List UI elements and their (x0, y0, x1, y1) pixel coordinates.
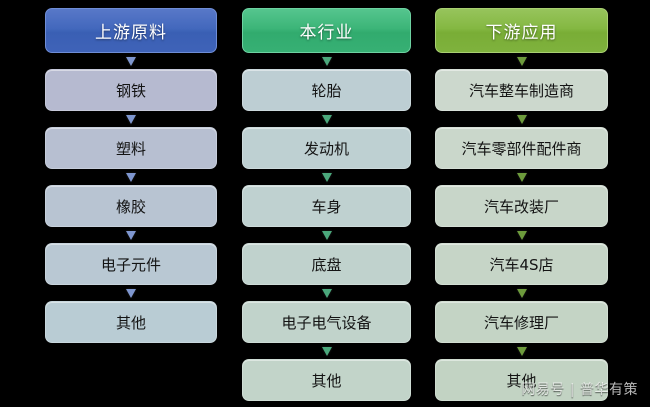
node-box[interactable]: 其他 (435, 359, 608, 401)
connector (45, 169, 217, 185)
connector (242, 53, 411, 69)
connector (435, 343, 608, 359)
node-box[interactable]: 其他 (45, 301, 217, 343)
arrow-down-icon (322, 115, 332, 124)
arrow-down-icon (322, 289, 332, 298)
connector (45, 285, 217, 301)
arrow-down-icon (126, 57, 136, 66)
industry-chain-diagram: 上游原料钢铁塑料橡胶电子元件其他 本行业轮胎发动机车身底盘电子电气设备其他 下游… (0, 0, 650, 407)
node-box[interactable]: 塑料 (45, 127, 217, 169)
column-industry: 本行业轮胎发动机车身底盘电子电气设备其他 (242, 8, 411, 401)
arrow-down-icon (126, 173, 136, 182)
arrow-down-icon (517, 231, 527, 240)
connector (242, 111, 411, 127)
connector (242, 227, 411, 243)
arrow-down-icon (126, 115, 136, 124)
arrow-down-icon (322, 57, 332, 66)
node-box[interactable]: 汽车整车制造商 (435, 69, 608, 111)
connector (435, 53, 608, 69)
connector (242, 169, 411, 185)
column-header-upstream[interactable]: 上游原料 (45, 8, 217, 53)
node-box[interactable]: 电子电气设备 (242, 301, 411, 343)
node-box[interactable]: 汽车零部件配件商 (435, 127, 608, 169)
connector (45, 53, 217, 69)
connector (45, 227, 217, 243)
node-box[interactable]: 其他 (242, 359, 411, 401)
connector (435, 169, 608, 185)
connector (435, 285, 608, 301)
arrow-down-icon (322, 231, 332, 240)
arrow-down-icon (126, 289, 136, 298)
column-header-downstream[interactable]: 下游应用 (435, 8, 608, 53)
node-box[interactable]: 汽车修理厂 (435, 301, 608, 343)
node-box[interactable]: 汽车改装厂 (435, 185, 608, 227)
connector (435, 111, 608, 127)
arrow-down-icon (322, 173, 332, 182)
node-box[interactable]: 车身 (242, 185, 411, 227)
connector (242, 285, 411, 301)
node-box[interactable]: 底盘 (242, 243, 411, 285)
connector (45, 111, 217, 127)
arrow-down-icon (517, 289, 527, 298)
node-box[interactable]: 发动机 (242, 127, 411, 169)
arrow-down-icon (126, 231, 136, 240)
arrow-down-icon (517, 115, 527, 124)
node-box[interactable]: 橡胶 (45, 185, 217, 227)
arrow-down-icon (322, 347, 332, 356)
node-box[interactable]: 汽车4S店 (435, 243, 608, 285)
column-downstream: 下游应用汽车整车制造商汽车零部件配件商汽车改装厂汽车4S店汽车修理厂其他 (435, 8, 608, 401)
node-box[interactable]: 轮胎 (242, 69, 411, 111)
column-header-industry[interactable]: 本行业 (242, 8, 411, 53)
arrow-down-icon (517, 173, 527, 182)
column-upstream: 上游原料钢铁塑料橡胶电子元件其他 (45, 8, 217, 343)
arrow-down-icon (517, 57, 527, 66)
connector (435, 227, 608, 243)
node-box[interactable]: 电子元件 (45, 243, 217, 285)
arrow-down-icon (517, 347, 527, 356)
connector (242, 343, 411, 359)
node-box[interactable]: 钢铁 (45, 69, 217, 111)
